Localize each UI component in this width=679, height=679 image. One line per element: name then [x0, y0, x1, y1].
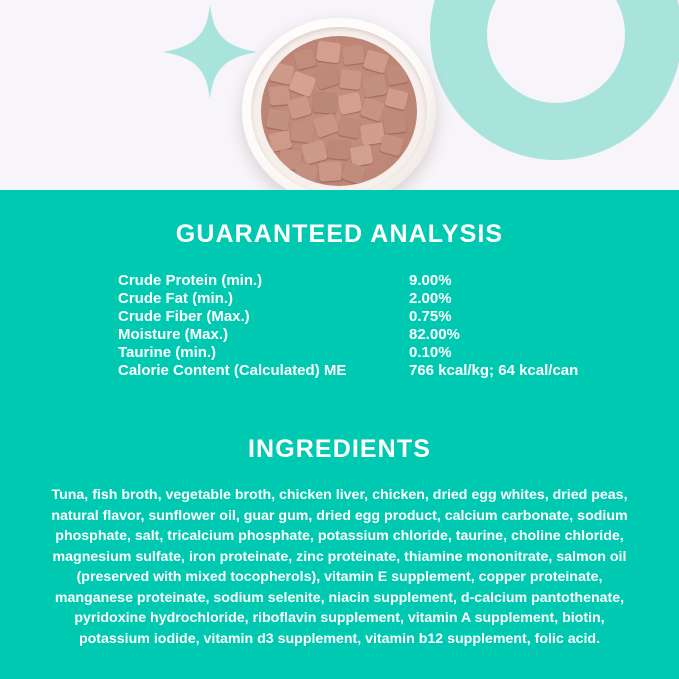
- nutrient-value: 0.75%: [409, 308, 452, 326]
- hero-banner: [0, 0, 679, 190]
- table-row: Crude Protein (min.) 9.00%: [118, 272, 588, 290]
- guaranteed-analysis-table: Crude Protein (min.) 9.00% Crude Fat (mi…: [118, 272, 588, 380]
- product-info-page: GUARANTEED ANALYSIS Crude Protein (min.)…: [0, 0, 679, 679]
- nutrient-label: Crude Fiber (Max.): [118, 308, 409, 326]
- nutrient-value: 766 kcal/kg; 64 kcal/can: [409, 362, 578, 380]
- nutrient-value: 9.00%: [409, 272, 452, 290]
- ingredients-text: Tuna, fish broth, vegetable broth, chick…: [42, 485, 637, 649]
- guaranteed-analysis-title: GUARANTEED ANALYSIS: [0, 220, 679, 249]
- nutrition-panel: GUARANTEED ANALYSIS Crude Protein (min.)…: [0, 190, 679, 679]
- table-row: Crude Fat (min.) 2.00%: [118, 290, 588, 308]
- nutrient-label: Moisture (Max.): [118, 326, 409, 344]
- product-bowl-image: [242, 18, 436, 190]
- table-row: Crude Fiber (Max.) 0.75%: [118, 308, 588, 326]
- nutrient-value: 82.00%: [409, 326, 460, 344]
- bowl-food-area: [261, 36, 417, 186]
- ingredients-title: INGREDIENTS: [0, 435, 679, 464]
- nutrient-label: Calorie Content (Calculated) ME: [118, 362, 409, 380]
- table-row: Taurine (min.) 0.10%: [118, 344, 588, 362]
- table-row: Calorie Content (Calculated) ME 766 kcal…: [118, 362, 588, 380]
- nutrient-label: Crude Fat (min.): [118, 290, 409, 308]
- nutrient-label: Taurine (min.): [118, 344, 409, 362]
- nutrient-value: 0.10%: [409, 344, 452, 362]
- nutrient-value: 2.00%: [409, 290, 452, 308]
- nutrient-label: Crude Protein (min.): [118, 272, 409, 290]
- table-row: Moisture (Max.) 82.00%: [118, 326, 588, 344]
